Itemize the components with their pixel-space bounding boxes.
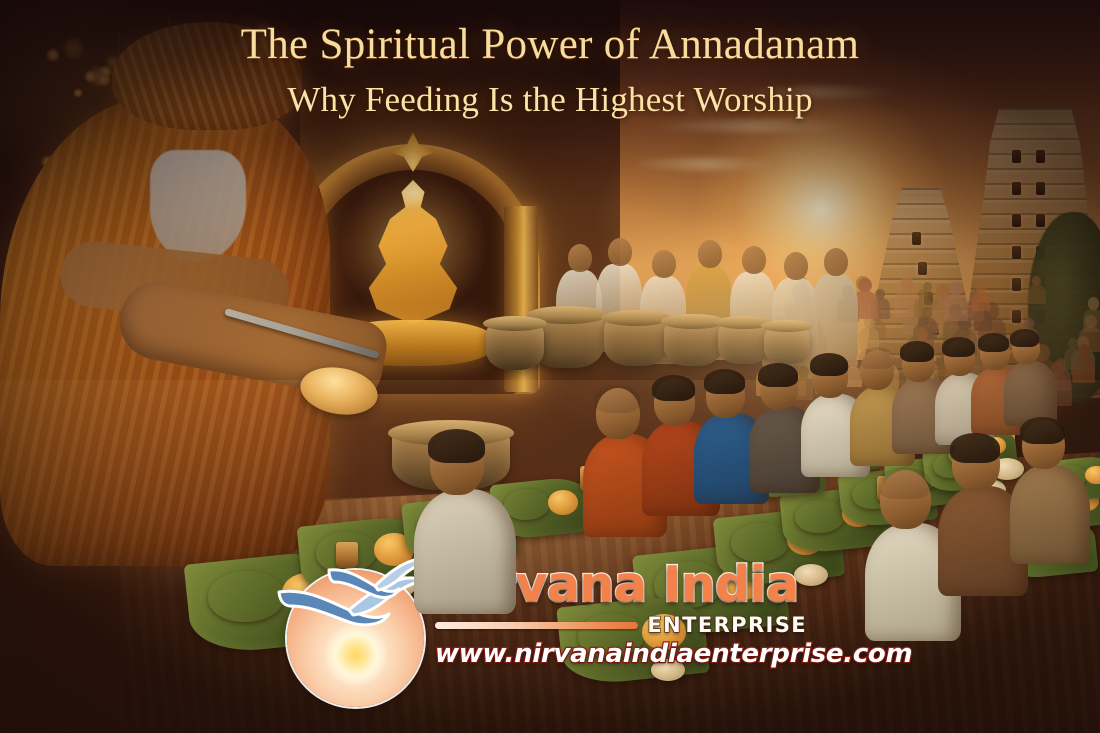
page-subtitle: Why Feeding Is the Highest Worship — [0, 79, 1100, 121]
website-url[interactable]: www.nirvanaindiaenterprise.com — [435, 639, 807, 669]
heading-block: The Spiritual Power of Annadanam Why Fee… — [0, 20, 1100, 121]
tagline-rule — [435, 622, 638, 629]
brand-logo[interactable]: Nirvana India ENTERPRISE www.nirvanaindi… — [287, 560, 807, 715]
devotee-body — [1010, 465, 1091, 564]
brand-tagline: ENTERPRISE — [647, 613, 807, 637]
devotee-hair — [950, 433, 1000, 463]
curry-portion — [1085, 466, 1100, 484]
devotee-hair — [900, 341, 934, 362]
devotee-hair — [1010, 329, 1039, 347]
devotee-hair — [942, 337, 975, 357]
page-title: The Spiritual Power of Annadanam — [0, 20, 1100, 70]
devotee-hair — [810, 353, 848, 376]
poster-canvas: The Spiritual Power of Annadanam Why Fee… — [0, 0, 1100, 733]
devotee-hair — [858, 347, 894, 369]
bird-icon-small — [323, 548, 427, 620]
devotee-body — [1004, 361, 1057, 426]
devotee-hair — [652, 375, 695, 401]
devotee-hair — [758, 363, 798, 387]
devotee-hair — [878, 467, 931, 499]
devotee-hair — [978, 333, 1009, 352]
tagline-row: ENTERPRISE — [435, 613, 807, 637]
devotee-body — [414, 489, 516, 614]
rice-heap — [795, 500, 845, 534]
devotee-hair — [594, 385, 640, 413]
curry-portion — [548, 490, 578, 515]
devotee-hair — [428, 429, 485, 463]
sunrise-circle-icon — [287, 570, 424, 707]
devotee-hair — [704, 369, 745, 394]
devotee-hair — [1020, 417, 1065, 444]
